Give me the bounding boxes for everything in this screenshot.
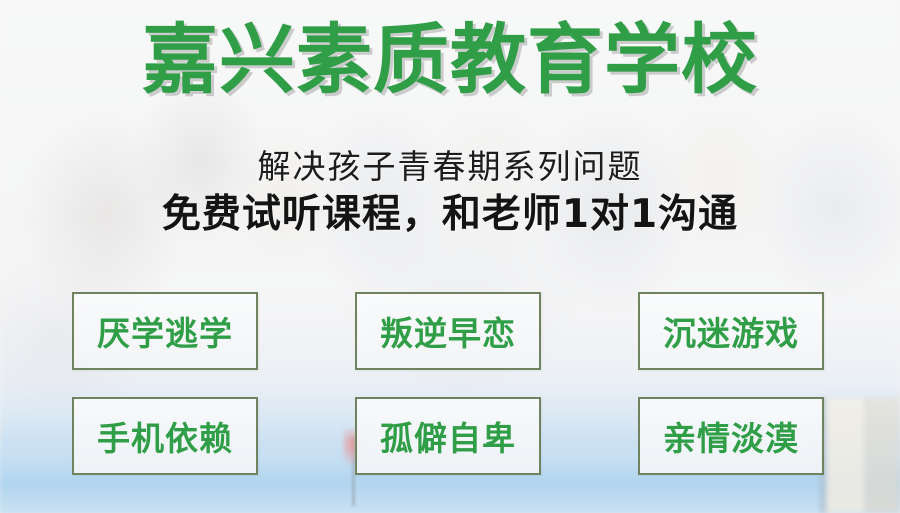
issue-tag-isolation[interactable]: 孤僻自卑	[355, 397, 541, 475]
school-name-heading: 嘉兴素质教育学校	[0, 14, 900, 106]
issue-tag-game-addiction[interactable]: 沉迷游戏	[638, 292, 824, 370]
subtitle-line-1: 解决孩子青春期系列问题	[0, 146, 900, 188]
subtitle-line-2: 免费试听课程，和老师1对1沟通	[0, 191, 900, 239]
issue-tag-grid: 厌学逃学 叛逆早恋 沉迷游戏 手机依赖 孤僻自卑 亲情淡漠	[72, 292, 825, 475]
issue-tag-family-apathy[interactable]: 亲情淡漠	[638, 397, 824, 475]
issue-tag-phone-dependence[interactable]: 手机依赖	[72, 397, 258, 475]
issue-tag-school-aversion[interactable]: 厌学逃学	[72, 292, 258, 370]
banner-content: 嘉兴素质教育学校 解决孩子青春期系列问题 免费试听课程，和老师1对1沟通 厌学逃…	[0, 0, 900, 513]
school-promo-banner: 嘉兴素质教育学校 解决孩子青春期系列问题 免费试听课程，和老师1对1沟通 厌学逃…	[0, 0, 900, 513]
issue-tag-rebellion-dating[interactable]: 叛逆早恋	[355, 292, 541, 370]
